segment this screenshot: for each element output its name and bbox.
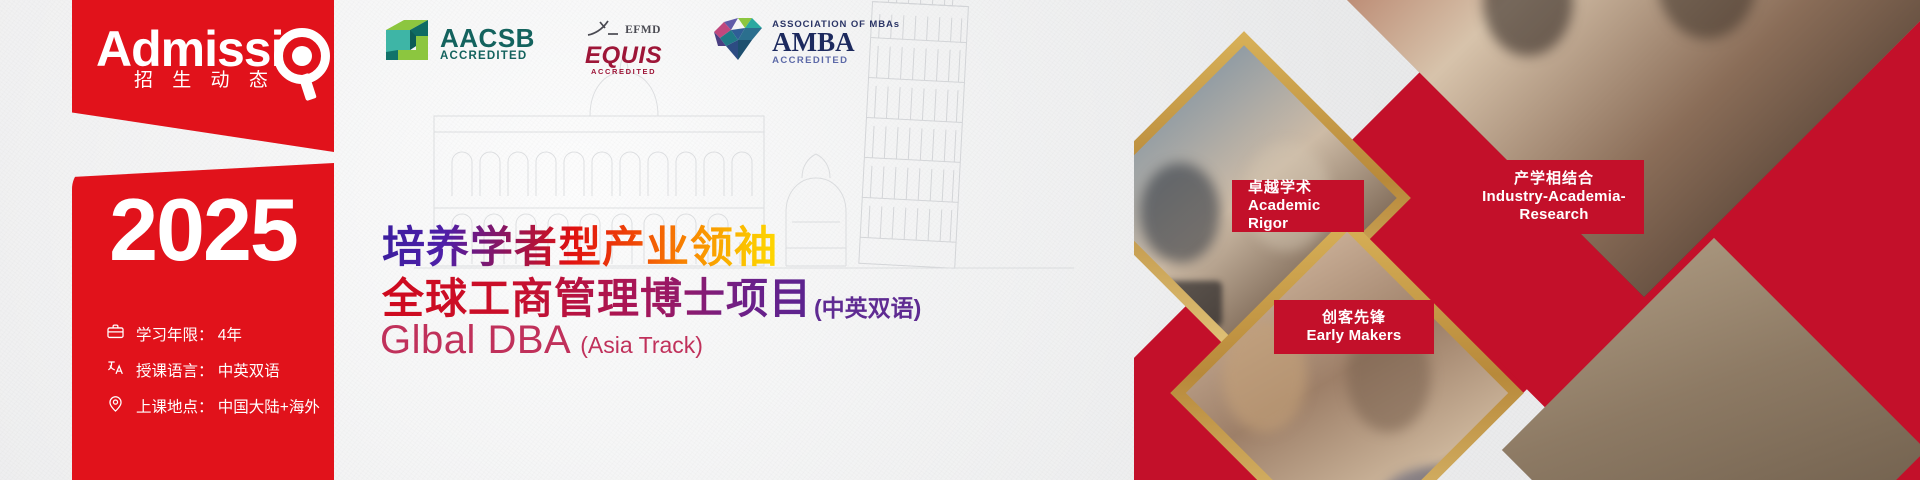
photo-figure — [1140, 163, 1220, 263]
program-track-label: (Asia Track) — [580, 332, 703, 363]
accreditation-aacsb: AACSB ACCREDITED — [382, 16, 535, 71]
photo-figure — [1657, 0, 1757, 39]
amba-diamond-icon — [712, 16, 764, 69]
efmd-swoosh-icon — [586, 16, 620, 43]
admission-chinese-label: 招 生 动 态 — [134, 65, 275, 92]
program-title-cn: 全球工商管理博士项目 — [382, 265, 812, 326]
photo-collage: 卓越学术 Academic Rigor 产学相结合 Industry-Acade… — [1134, 0, 1920, 480]
equis-text: EQUIS ACCREDITED — [585, 43, 662, 76]
headline-program-title: 全球工商管理博士项目 (中英双语) — [382, 265, 921, 326]
translate-icon — [106, 358, 125, 382]
admission-banner: Admissi 招 生 动 态 2025 学习年限： 4年 — [0, 0, 1920, 480]
accreditation-amba: ASSOCIATION OF MBAs AMBA ACCREDITED — [712, 16, 900, 69]
info-text-duration: 学习年限： 4年 — [136, 323, 242, 345]
equis-name: EQUIS — [585, 44, 662, 68]
label-industry-academia: 产学相结合 Industry-Academia- Research — [1464, 160, 1644, 234]
label-early-makers-en: Early Makers — [1307, 327, 1402, 345]
program-title-en: Glbal DBA — [380, 318, 571, 363]
amba-accredited: ACCREDITED — [772, 56, 900, 66]
amba-text: ASSOCIATION OF MBAs AMBA ACCREDITED — [772, 20, 900, 66]
photo-figure — [1483, 0, 1573, 56]
amba-name: AMBA — [772, 29, 900, 56]
program-info-list: 学习年限： 4年 授课语言： 中英双语 上课地点 — [106, 316, 346, 424]
center-content: AACSB ACCREDITED EFMD EQUI — [334, 0, 1134, 480]
headline-program-title-en: Glbal DBA (Asia Track) — [380, 318, 703, 363]
info-row-location: 上课地点： 中国大陆+海外 — [106, 388, 346, 424]
program-title-suffix: (中英双语) — [814, 289, 921, 326]
label-industry-academia-cn: 产学相结合 — [1514, 170, 1594, 188]
label-early-makers-cn: 创客先锋 — [1322, 309, 1386, 327]
info-text-language: 授课语言： 中英双语 — [136, 359, 280, 381]
year-label: 2025 — [72, 182, 334, 278]
label-academic-rigor: 卓越学术 Academic Rigor — [1232, 180, 1364, 232]
label-industry-academia-en2: Research — [1519, 206, 1588, 224]
label-early-makers: 创客先锋 Early Makers — [1274, 300, 1434, 354]
label-academic-rigor-en: Academic Rigor — [1248, 197, 1348, 232]
aacsb-text: AACSB ACCREDITED — [440, 25, 535, 63]
info-row-duration: 学习年限： 4年 — [106, 316, 346, 352]
accreditation-equis: EFMD EQUIS ACCREDITED — [585, 16, 662, 76]
admission-logo: Admissi 招 生 动 态 — [96, 22, 336, 108]
left-red-panel: Admissi 招 生 动 态 2025 学习年限： 4年 — [72, 0, 334, 480]
equis-accredited: ACCREDITED — [585, 68, 662, 76]
briefcase-icon — [106, 322, 125, 346]
label-academic-rigor-cn: 卓越学术 — [1248, 179, 1348, 197]
info-text-location: 上课地点： 中国大陆+海外 — [136, 395, 320, 417]
aacsb-accredited: ACCREDITED — [440, 51, 535, 63]
efmd-label: EFMD — [625, 24, 661, 36]
aacsb-cube-icon — [382, 16, 432, 71]
accreditation-logos: AACSB ACCREDITED EFMD EQUI — [382, 16, 900, 76]
info-row-language: 授课语言： 中英双语 — [106, 352, 346, 388]
location-pin-icon — [106, 394, 125, 418]
aacsb-name: AACSB — [440, 25, 535, 51]
label-industry-academia-en: Industry-Academia- — [1482, 188, 1626, 206]
